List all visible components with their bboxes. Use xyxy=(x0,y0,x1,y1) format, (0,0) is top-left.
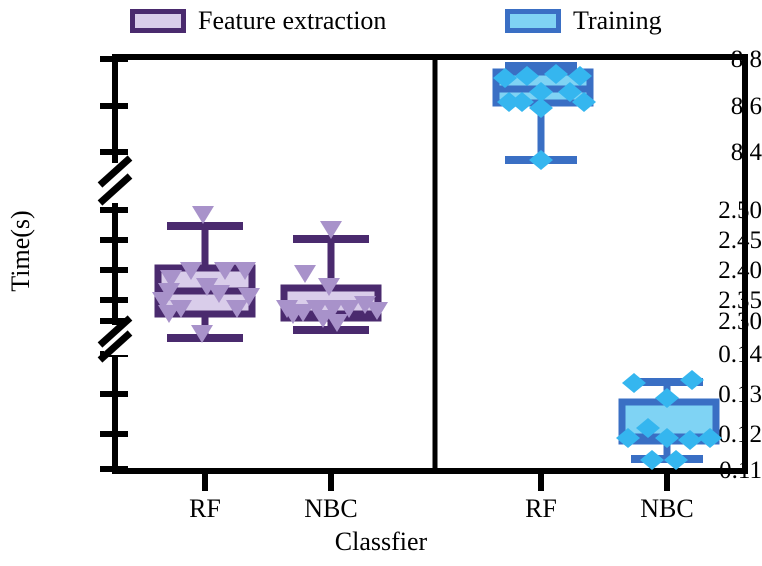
box-feature-extraction-rf xyxy=(152,206,260,343)
x-axis-title: Classfier xyxy=(0,527,762,557)
box-training-rf xyxy=(493,64,596,170)
xtick-label-nbc-training: NBC xyxy=(622,496,712,522)
xtick-label-nbc-feature-extraction: NBC xyxy=(286,496,376,522)
axis-break-upper xyxy=(100,158,130,203)
xtick-label-rf-training: RF xyxy=(501,496,581,522)
box-training-nbc xyxy=(616,370,722,470)
box-feature-extraction-nbc xyxy=(276,221,388,332)
xtick-label-rf-feature-extraction: RF xyxy=(165,496,245,522)
boxplot-figure: Feature extraction Training 8.8 8.6 8.4 … xyxy=(0,0,762,566)
plot-canvas xyxy=(0,0,762,566)
